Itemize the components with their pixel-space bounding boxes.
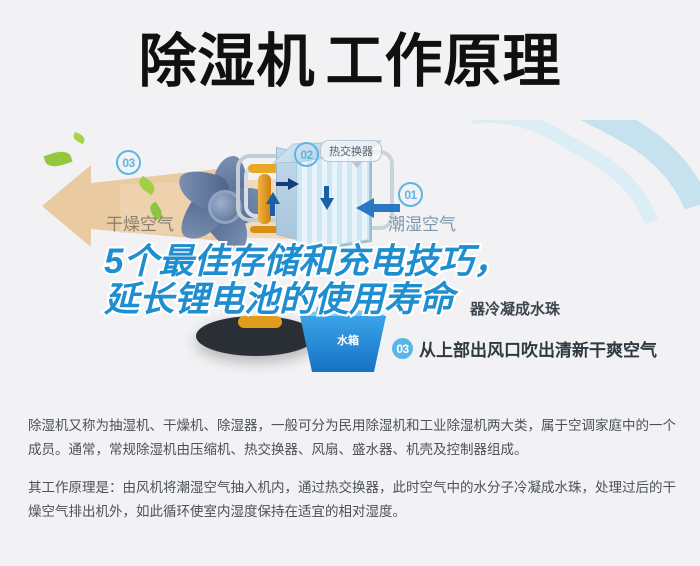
leaf-icon: [72, 132, 86, 144]
page-title: 除湿机工作原理: [0, 30, 700, 94]
article-paragraph-1: 除湿机又称为抽湿机、干燥机、除湿器，一般可分为民用除湿机和工业除湿机两大类，属于…: [28, 414, 676, 462]
page-title-part1: 除湿机: [138, 29, 315, 94]
article-paragraph-2: 其工作原理是：由风机将潮湿空气抽入机内，通过热交换器，此时空气中的水分子冷凝成水…: [28, 476, 676, 524]
flow-arrow-down-stem: [324, 186, 329, 200]
callout-badge-02: 02: [294, 142, 319, 167]
leaf-icon: [43, 148, 72, 169]
water-tank-label: 水箱: [318, 332, 378, 348]
article-body: 除湿机又称为抽湿机、干燥机、除湿器，一般可分为民用除湿机和工业除湿机两大类，属于…: [28, 414, 676, 538]
dehumidifier-diagram: 水箱 03 干燥空气 02 热交换器 01 潮湿空气 器冷凝成水珠 03 从上部…: [0, 120, 700, 395]
step-02-text: 器冷凝成水珠: [470, 298, 560, 319]
step-03-badge: 03: [392, 338, 413, 359]
callout-badge-01: 01: [398, 182, 423, 207]
machine-base-copper: [238, 316, 282, 328]
flow-arrow-up-stem: [270, 202, 275, 216]
dry-air-label: 干燥空气: [106, 210, 174, 235]
page-title-part2: 工作原理: [326, 29, 562, 94]
callout-badge-03: 03: [116, 150, 141, 175]
page-root: 除湿机工作原理: [0, 0, 700, 566]
heat-exchanger-bubble-label: 热交换器: [320, 140, 382, 162]
step-03-text: 从上部出风口吹出清新干爽空气: [419, 336, 657, 361]
humid-air-label: 潮湿空气: [388, 210, 456, 235]
step-03-row: 03 从上部出风口吹出清新干爽空气: [392, 336, 657, 361]
flow-arrow-right-stem: [276, 182, 290, 186]
